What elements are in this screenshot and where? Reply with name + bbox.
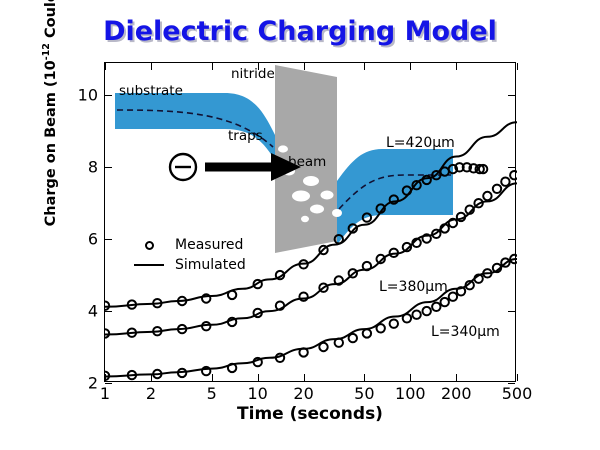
x-tick-mark [517,374,518,381]
y-tick-mark [508,239,515,240]
x-tick-mark [410,63,411,70]
x-tick-mark [410,374,411,381]
x-tick-label: 1 [100,384,110,403]
plot-area: substrate nitride traps beam Measured Si… [104,62,516,382]
y-tick-label: 4 [88,302,98,321]
y-tick-label: 6 [88,230,98,249]
chart-screenshot: Dielectric Charging Model Charge on Beam… [0,0,600,450]
x-tick-label: 2 [146,384,156,403]
y-axis-title-main: Charge on Beam (10 [43,60,59,226]
x-tick-label: 10 [247,384,267,403]
x-tick-mark [456,63,457,70]
curve-label-340: L=340μm [431,324,500,340]
y-axis-title-tail: Coulombs) [43,0,59,43]
x-tick-label: 100 [395,384,426,403]
x-tick-mark [517,63,518,70]
curve-label-380: L=380μm [379,279,448,295]
x-tick-mark [151,63,152,70]
x-tick-mark [212,374,213,381]
y-tick-mark [105,95,112,96]
x-tick-label: 200 [441,384,472,403]
x-axis-title: Time (seconds) [104,404,516,424]
y-axis-title: Charge on Beam (10-12 Coulombs) [41,0,59,254]
x-tick-mark [364,374,365,381]
legend: Measured Simulated [129,235,246,275]
legend-label-measured: Measured [175,237,243,253]
x-tick-mark [105,63,106,70]
y-axis-title-exponent: -12 [41,43,52,60]
x-tick-mark [258,374,259,381]
x-tick-label: 50 [354,384,374,403]
y-tick-mark [508,311,515,312]
y-tick-mark [508,167,515,168]
legend-entry-measured: Measured [129,235,246,255]
y-tick-mark [105,167,112,168]
x-tick-mark [151,374,152,381]
curve-label-420: L=420μm [386,135,455,151]
y-tick-label: 10 [78,86,98,105]
page-title: Dielectric Charging Model [0,16,600,47]
legend-entry-simulated: Simulated [129,255,246,275]
x-tick-mark [304,63,305,70]
simulated-line-icon [129,264,169,266]
simulated-curve [105,122,517,306]
x-tick-label: 5 [207,384,217,403]
y-tick-mark [508,95,515,96]
y-tick-label: 2 [88,374,98,393]
legend-label-simulated: Simulated [175,257,246,273]
y-tick-mark [105,239,112,240]
x-tick-label: 20 [293,384,313,403]
x-tick-mark [304,374,305,381]
measured-marker-icon [129,241,169,250]
x-tick-label: 500 [502,384,533,403]
x-tick-mark [456,374,457,381]
y-tick-label: 8 [88,158,98,177]
x-tick-mark [258,63,259,70]
x-tick-mark [212,63,213,70]
y-tick-mark [105,311,112,312]
x-tick-mark [364,63,365,70]
x-tick-mark [105,374,106,381]
simulated-curve [105,259,517,377]
